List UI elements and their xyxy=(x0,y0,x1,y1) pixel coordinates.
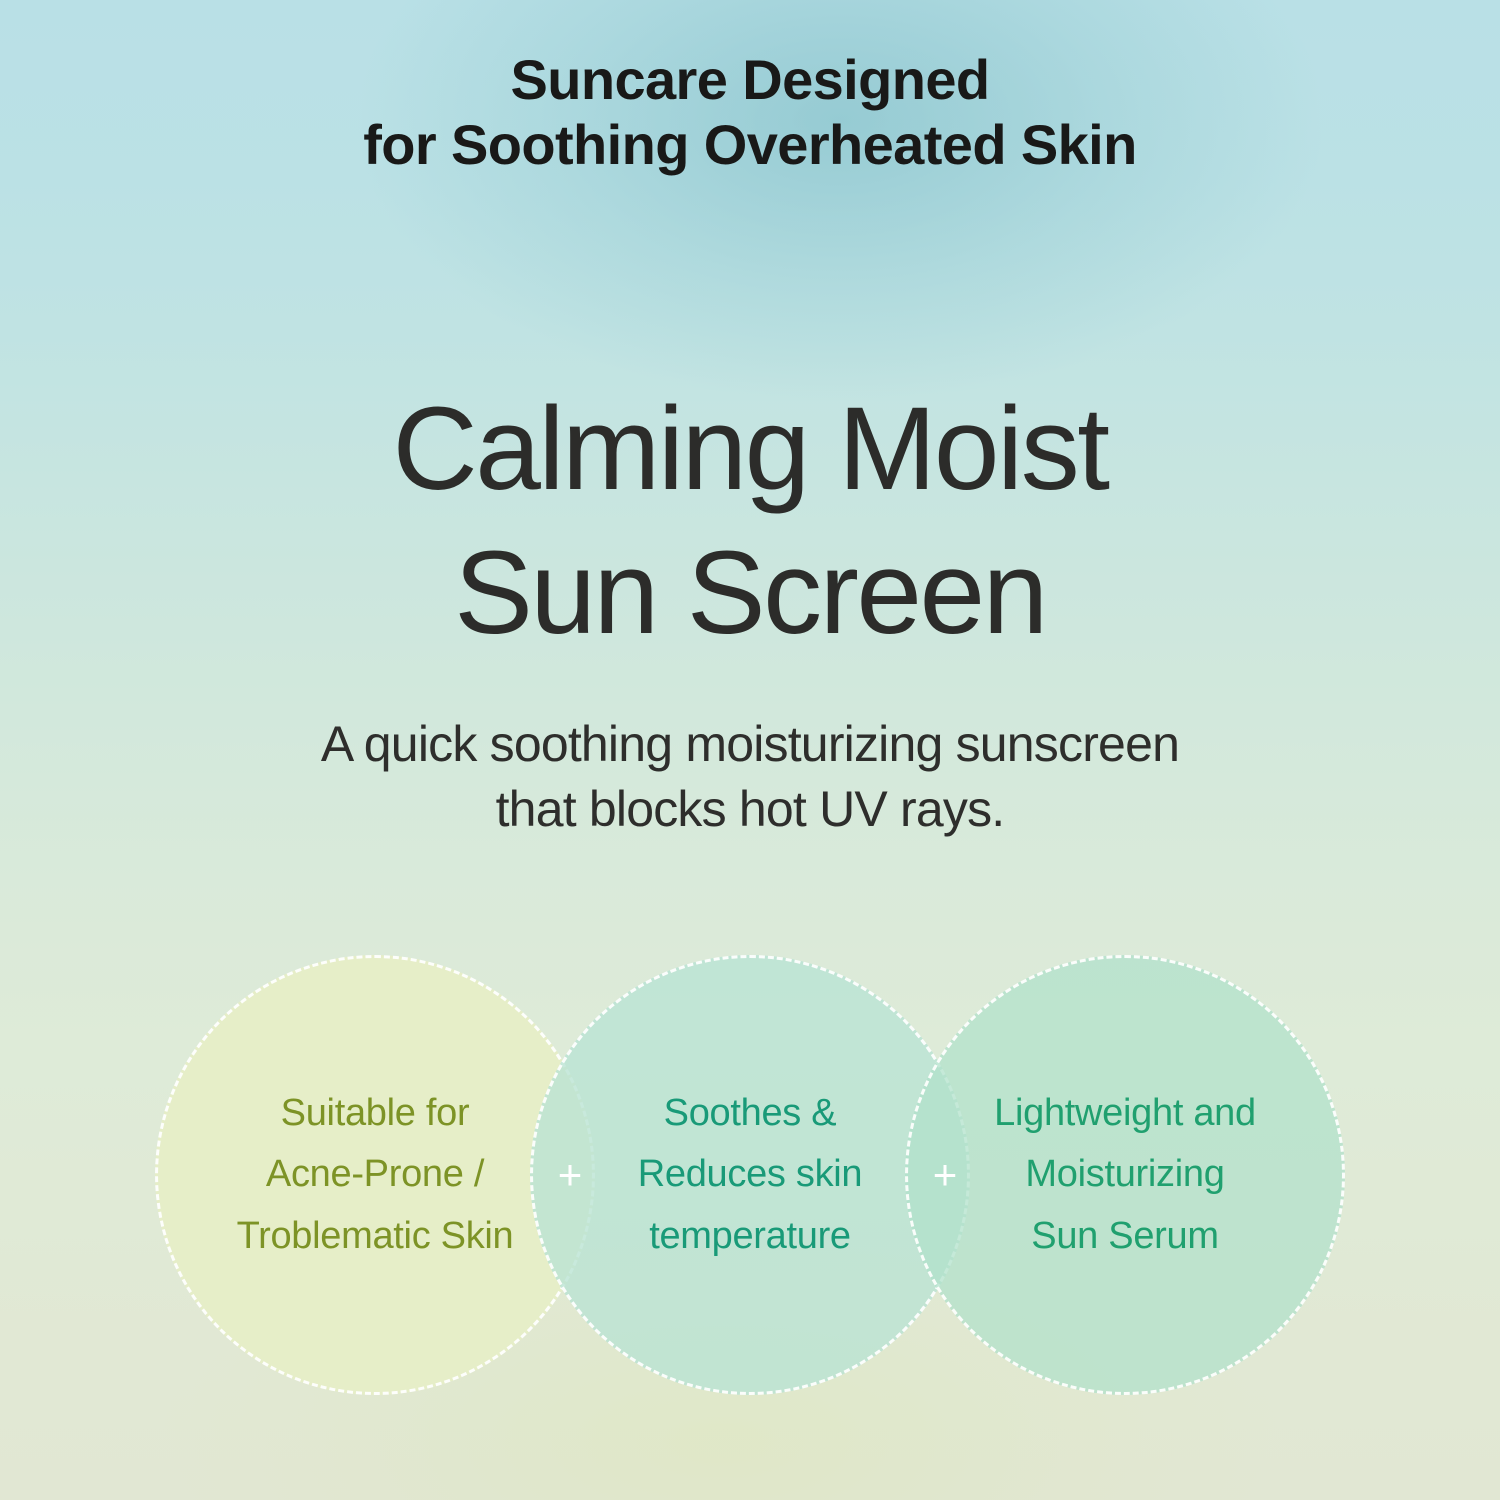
plus-icon: + xyxy=(548,1153,592,1197)
benefit-circle-soothes-reduces-temperature: Soothes & Reduces skin temperature xyxy=(530,955,970,1395)
benefit-circle-lightweight-sun-serum: Lightweight and Moisturizing Sun Serum xyxy=(905,955,1345,1395)
description-line-2: that blocks hot UV rays. xyxy=(0,777,1500,842)
eyebrow-line-2: for Soothing Overheated Skin xyxy=(0,113,1500,178)
benefit-circle-acne-prone: Suitable for Acne-Prone / Troblematic Sk… xyxy=(155,955,595,1395)
product-description: A quick soothing moisturizing sunscreen … xyxy=(0,712,1500,842)
benefits-venn-diagram: Suitable for Acne-Prone / Troblematic Sk… xyxy=(155,955,1345,1395)
benefit-1-line-2: Acne-Prone / xyxy=(237,1144,514,1206)
benefit-2-line-3: temperature xyxy=(638,1206,863,1268)
benefit-2-line-1: Soothes & xyxy=(638,1083,863,1145)
eyebrow-heading: Suncare Designed for Soothing Overheated… xyxy=(0,48,1500,178)
benefit-circle-lightweight-text: Lightweight and Moisturizing Sun Serum xyxy=(976,1083,1274,1268)
benefit-2-line-2: Reduces skin xyxy=(638,1144,863,1206)
benefit-circle-soothes-text: Soothes & Reduces skin temperature xyxy=(620,1083,881,1268)
promo-poster: Suncare Designed for Soothing Overheated… xyxy=(0,0,1500,1500)
description-line-1: A quick soothing moisturizing sunscreen xyxy=(0,712,1500,777)
benefit-1-line-1: Suitable for xyxy=(237,1083,514,1145)
eyebrow-line-1: Suncare Designed xyxy=(0,48,1500,113)
product-title-line-1: Calming Moist xyxy=(0,378,1500,522)
benefit-1-line-3: Troblematic Skin xyxy=(237,1206,514,1268)
benefit-circle-acne-prone-text: Suitable for Acne-Prone / Troblematic Sk… xyxy=(219,1083,532,1268)
benefit-3-line-1: Lightweight and xyxy=(994,1083,1256,1145)
benefit-3-line-3: Sun Serum xyxy=(994,1206,1256,1268)
product-title-line-2: Sun Screen xyxy=(0,522,1500,666)
benefit-3-line-2: Moisturizing xyxy=(994,1144,1256,1206)
page-title: Calming Moist Sun Screen xyxy=(0,378,1500,666)
plus-icon: + xyxy=(923,1153,967,1197)
